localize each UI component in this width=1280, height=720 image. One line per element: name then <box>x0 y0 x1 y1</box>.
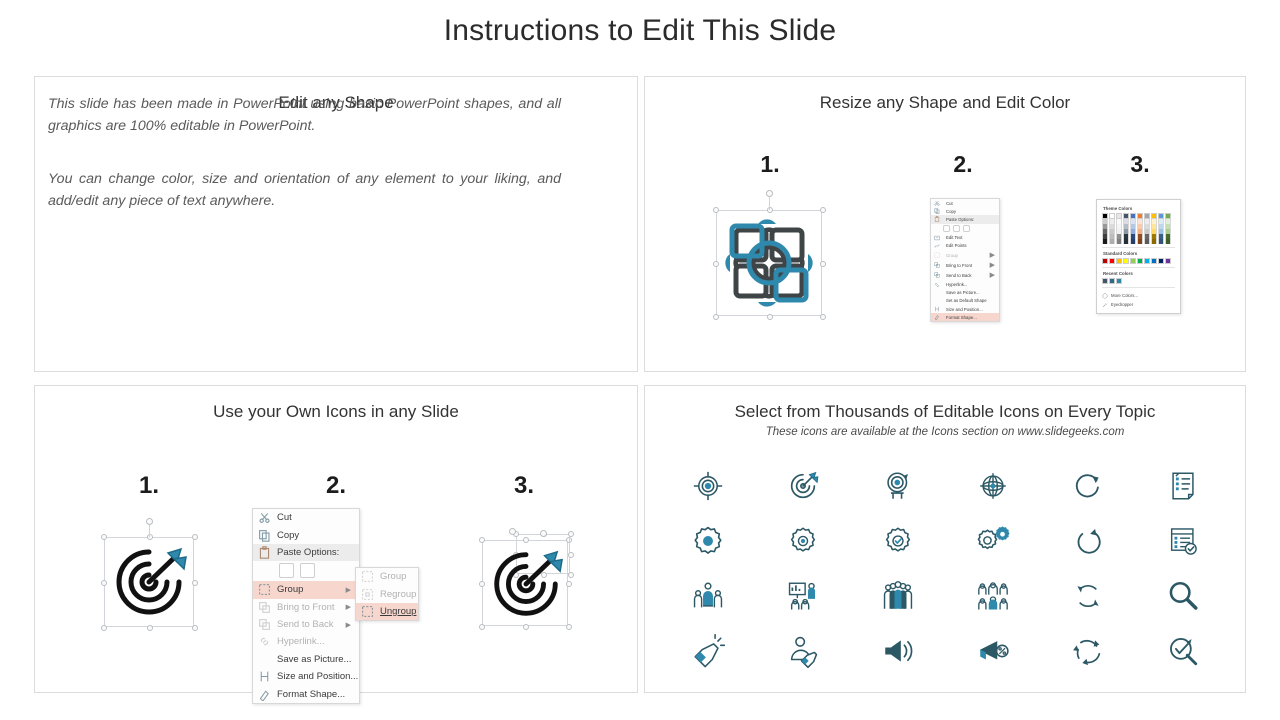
presentation-team-icon[interactable] <box>786 579 820 613</box>
send-back-icon <box>934 272 940 278</box>
ctx-item-set-default-shape[interactable]: Set as Default Shape <box>931 297 999 305</box>
ctx-item-save-as-picture[interactable]: Save as Picture... <box>253 651 359 668</box>
cycle-two-arrows-icon[interactable] <box>1071 579 1105 613</box>
ctx-label: Send to Back <box>277 619 334 630</box>
ctx-item-group[interactable]: Group ▶ <box>931 250 999 260</box>
edit-points-icon <box>934 243 940 249</box>
theme-tint-swatch[interactable] <box>1144 239 1150 244</box>
recent-colors-row[interactable] <box>1102 278 1175 284</box>
hyperlink-icon <box>934 282 940 288</box>
ctx-item-send-to-back[interactable]: Send to Back ▶ <box>931 270 999 280</box>
theme-tint-column-9[interactable] <box>1165 219 1171 244</box>
ctx-item-hyperlink[interactable]: Hyperlink... <box>253 633 359 650</box>
copy-icon <box>934 208 940 214</box>
handle-top-right[interactable] <box>820 207 826 213</box>
standard-color-swatch-8[interactable] <box>1158 258 1164 264</box>
submenu-item-group[interactable]: Group <box>356 568 418 585</box>
rotation-handle[interactable] <box>766 190 773 197</box>
paste-picture-button[interactable] <box>300 563 315 578</box>
rotation-stem <box>769 196 770 210</box>
checklist-approved-icon[interactable] <box>1166 524 1200 558</box>
handle-bottom-right[interactable] <box>820 314 826 320</box>
theme-tint-column-7[interactable] <box>1151 219 1157 244</box>
edit-shape-paragraph-1: This slide has been made in PowerPoint u… <box>48 93 561 137</box>
paste-icon <box>258 546 271 559</box>
handle-bottom-right[interactable] <box>192 625 198 631</box>
handle-bottom-left[interactable] <box>101 625 107 631</box>
ctx-item-copy[interactable]: Copy <box>253 526 359 543</box>
ctx-label: Format Shape... <box>946 315 977 320</box>
ctx-label: Set as Default Shape <box>946 298 987 303</box>
ctx-label: Ungroup <box>380 606 416 617</box>
bring-front-icon <box>258 601 271 614</box>
people-group-icon[interactable] <box>881 579 915 613</box>
theme-tint-column-6[interactable] <box>1144 219 1150 244</box>
dartboard-arrow-icon[interactable] <box>786 469 820 503</box>
theme-tint-swatch[interactable] <box>1151 239 1157 244</box>
ctx-item-format-shape[interactable]: Format Shape... <box>253 685 359 702</box>
theme-tint-swatch[interactable] <box>1123 239 1129 244</box>
scissors-icon <box>934 200 940 206</box>
more-colors-icon <box>1102 293 1108 299</box>
submenu-arrow-icon: ▶ <box>346 603 351 611</box>
handle-bottom-right[interactable] <box>566 624 572 630</box>
size-position-icon <box>934 306 940 312</box>
regroup-icon <box>361 588 374 601</box>
standard-color-swatch-6[interactable] <box>1144 258 1150 264</box>
submenu-arrow-icon: ▶ <box>346 586 351 594</box>
paste-picture-button[interactable] <box>953 225 960 232</box>
paste-icon <box>934 216 940 222</box>
ctx-label: Group <box>277 584 303 595</box>
bring-front-icon <box>934 262 940 268</box>
ctx-item-cut[interactable]: Cut <box>931 199 999 207</box>
ctx-item-paste-options[interactable]: Paste Options: <box>931 215 999 223</box>
recent-color-swatch-0[interactable] <box>1102 278 1108 284</box>
theme-tint-swatch[interactable] <box>1109 239 1115 244</box>
divider <box>1102 287 1175 288</box>
ctx-label: Copy <box>277 530 299 541</box>
crosshair-scope-icon[interactable] <box>976 469 1010 503</box>
ctx-label: Edit Points <box>946 243 967 248</box>
ctx-label: Bring to Front <box>946 263 972 268</box>
ctx-label: Send to Back <box>946 273 972 278</box>
ctx-item-bring-to-front[interactable]: Bring to Front ▶ <box>931 260 999 270</box>
meeting-group-icon[interactable] <box>976 579 1010 613</box>
group-icon <box>361 570 374 583</box>
resizable-shape-graphic <box>718 212 820 314</box>
ctx-label: Cut <box>277 512 292 523</box>
team-leader-icon[interactable] <box>691 579 725 613</box>
handle-bottom-center[interactable] <box>767 314 773 320</box>
page-title: Instructions to Edit This Slide <box>0 14 1280 48</box>
standard-color-swatch-4[interactable] <box>1130 258 1136 264</box>
refresh-clockwise-icon[interactable] <box>1071 469 1105 503</box>
group-icon <box>258 583 271 596</box>
handle-top-left[interactable] <box>101 534 107 540</box>
ctx-item-group[interactable]: Group ▶ <box>253 581 359 598</box>
theme-tint-column-5[interactable] <box>1137 219 1143 244</box>
ctx-label: Paste Options: <box>277 547 339 558</box>
standard-color-swatch-0[interactable] <box>1102 258 1108 264</box>
standard-color-swatch-2[interactable] <box>1116 258 1122 264</box>
rotation-handle[interactable] <box>509 528 516 535</box>
magnifier-check-icon[interactable] <box>1166 634 1200 668</box>
gears-double-icon[interactable] <box>976 524 1010 558</box>
ctx-label: Format Shape... <box>277 689 345 700</box>
ctx-label: Size and Position... <box>277 671 358 682</box>
more-colors-item[interactable]: More Colors... <box>1102 291 1175 300</box>
recent-color-swatch-1[interactable] <box>1109 278 1115 284</box>
refresh-counter-icon[interactable] <box>1071 524 1105 558</box>
send-back-icon <box>258 618 271 631</box>
person-megaphone-icon[interactable] <box>786 634 820 668</box>
ctx-label: Copy <box>946 209 956 214</box>
eyedropper-item[interactable]: Eyedropper <box>1102 300 1175 309</box>
ctx-label: Cut <box>946 201 953 206</box>
resize-step-number-2: 2. <box>933 151 993 178</box>
own-icons-step-number-1: 1. <box>119 472 179 500</box>
ctx-label: Hyperlink... <box>946 282 968 287</box>
theme-tint-swatch[interactable] <box>1158 239 1164 244</box>
ctx-label: Group <box>380 571 406 582</box>
cycle-three-arrows-icon[interactable] <box>1071 634 1105 668</box>
theme-colors-label: Theme Colors <box>1103 206 1175 211</box>
resize-step-number-1: 1. <box>740 151 800 178</box>
standard-colors-row[interactable] <box>1102 258 1175 264</box>
shape-context-menu-small[interactable]: Cut Copy Paste Options: Edit Text Edit P… <box>930 198 1000 322</box>
theme-tint-column-4[interactable] <box>1130 219 1136 244</box>
theme-tint-column-8[interactable] <box>1158 219 1164 244</box>
save-picture-icon <box>258 653 271 666</box>
hyperlink-icon <box>258 635 271 648</box>
theme-tint-swatch[interactable] <box>1165 239 1171 244</box>
standard-color-swatch-3[interactable] <box>1123 258 1129 264</box>
ungroup-icon <box>361 605 374 618</box>
theme-tint-column-1[interactable] <box>1109 219 1115 244</box>
ungrouped-target-arrow-graphic <box>486 544 566 624</box>
theme-tint-swatch[interactable] <box>1102 239 1108 244</box>
edit-text-icon <box>934 235 940 241</box>
megaphone-percent-icon[interactable] <box>976 634 1010 668</box>
save-picture-icon <box>934 290 940 296</box>
standard-color-swatch-5[interactable] <box>1137 258 1143 264</box>
megaphone-icon[interactable] <box>691 634 725 668</box>
own-icons-step-number-2: 2. <box>306 472 366 500</box>
eyedropper-label: Eyedropper <box>1111 302 1133 307</box>
ctx-item-bring-to-front[interactable]: Bring to Front ▶ <box>253 599 359 616</box>
gear-filled-icon[interactable] <box>691 524 725 558</box>
theme-tint-column-3[interactable] <box>1123 219 1129 244</box>
eyedropper-icon <box>1102 302 1108 308</box>
handle-middle-right[interactable] <box>820 261 826 267</box>
handle-bottom-right[interactable] <box>568 572 574 578</box>
rotation-stem <box>149 524 150 537</box>
panel-subtitle-editable-icons: These icons are available at the Icons s… <box>645 426 1245 438</box>
handle-bottom-left[interactable] <box>713 314 719 320</box>
handle-top-right[interactable] <box>192 534 198 540</box>
ctx-label: Bring to Front <box>277 602 335 613</box>
handle-middle-right[interactable] <box>566 581 572 587</box>
resize-step-number-3: 3. <box>1110 151 1170 178</box>
ctx-item-paste-options[interactable]: Paste Options: <box>253 544 359 561</box>
ctx-label: Group <box>946 253 958 258</box>
scissors-icon <box>258 511 271 524</box>
ctx-item-size-and-position[interactable]: Size and Position... <box>931 305 999 313</box>
handle-bottom-center[interactable] <box>523 624 529 630</box>
standard-color-swatch-9[interactable] <box>1165 258 1171 264</box>
ctx-item-edit-text[interactable]: Edit Text <box>931 234 999 242</box>
submenu-arrow-icon: ▶ <box>990 261 995 269</box>
handle-top-right[interactable] <box>568 531 574 537</box>
target-stand-icon[interactable] <box>881 469 915 503</box>
ctx-label: Edit Text <box>946 235 962 240</box>
editable-icons-grid <box>660 458 1230 678</box>
theme-tint-swatch[interactable] <box>1137 239 1143 244</box>
divider <box>1102 267 1175 268</box>
group-submenu[interactable]: Group Regroup Ungroup <box>355 567 419 621</box>
theme-tint-column-0[interactable] <box>1102 219 1108 244</box>
checklist-document-icon[interactable] <box>1166 469 1200 503</box>
rotation-handle[interactable] <box>146 518 153 525</box>
submenu-item-regroup[interactable]: Regroup <box>356 585 418 602</box>
handle-top-center[interactable] <box>147 534 153 540</box>
group-context-menu[interactable]: Cut Copy Paste Options: Group ▶ Bring to… <box>252 508 360 704</box>
handle-middle-left[interactable] <box>101 580 107 586</box>
divider <box>1102 247 1175 248</box>
standard-color-swatch-1[interactable] <box>1109 258 1115 264</box>
theme-tints-grid[interactable] <box>1102 219 1175 244</box>
paste-keep-formatting-button[interactable] <box>279 563 294 578</box>
slide-canvas: Instructions to Edit This Slide Edit any… <box>0 0 1280 720</box>
standard-colors-label: Standard Colors <box>1103 251 1175 256</box>
ctx-label: Hyperlink... <box>277 636 325 647</box>
ctx-item-cut[interactable]: Cut <box>253 509 359 526</box>
ctx-item-send-to-back[interactable]: Send to Back ▶ <box>253 616 359 633</box>
ctx-item-size-and-position[interactable]: Size and Position... <box>253 668 359 685</box>
handle-middle-right[interactable] <box>568 552 574 558</box>
size-position-icon <box>258 670 271 683</box>
copy-icon <box>258 529 271 542</box>
grouped-target-arrow-graphic <box>108 541 190 623</box>
theme-tint-swatch[interactable] <box>1130 239 1136 244</box>
ctx-label: Paste Options: <box>946 217 974 222</box>
panel-title-editable-icons: Select from Thousands of Editable Icons … <box>645 402 1245 422</box>
submenu-item-ungroup[interactable]: Ungroup <box>356 603 418 620</box>
theme-tint-swatch[interactable] <box>1116 239 1122 244</box>
target-crosshair-icon[interactable] <box>691 469 725 503</box>
handle-bottom-center[interactable] <box>147 625 153 631</box>
ctx-item-save-as-picture[interactable]: Save as Picture... <box>931 289 999 297</box>
paste-keep-text-button[interactable] <box>963 225 970 232</box>
ctx-label: Save as Picture... <box>277 654 351 665</box>
handle-middle-left[interactable] <box>479 581 485 587</box>
panel-title-resize-shape: Resize any Shape and Edit Color <box>645 93 1245 113</box>
group-icon <box>934 252 940 258</box>
format-shape-icon <box>258 688 271 701</box>
ctx-item-edit-points[interactable]: Edit Points <box>931 242 999 250</box>
rotation-handle[interactable] <box>540 530 547 537</box>
submenu-arrow-icon: ▶ <box>990 251 995 259</box>
ctx-label: Regroup <box>380 589 416 600</box>
color-picker-panel[interactable]: Theme Colors Standard Colors Recent Colo… <box>1096 199 1181 314</box>
handle-bottom-left[interactable] <box>479 624 485 630</box>
handle-middle-right[interactable] <box>192 580 198 586</box>
speaker-loud-icon[interactable] <box>881 634 915 668</box>
own-icons-step-number-3: 3. <box>494 472 554 500</box>
default-shape-icon <box>934 298 940 304</box>
paste-keep-formatting-button[interactable] <box>943 225 950 232</box>
ctx-item-copy[interactable]: Copy <box>931 207 999 215</box>
ctx-label: Size and Position... <box>946 307 983 312</box>
paste-options-strip[interactable] <box>931 224 999 234</box>
panel-title-own-icons: Use your Own Icons in any Slide <box>35 402 637 422</box>
submenu-arrow-icon: ▶ <box>346 621 351 629</box>
recent-colors-label: Recent Colors <box>1103 271 1175 276</box>
standard-color-swatch-7[interactable] <box>1151 258 1157 264</box>
ctx-item-hyperlink[interactable]: Hyperlink... <box>931 281 999 289</box>
recent-color-swatch-2[interactable] <box>1116 278 1122 284</box>
gear-check-icon[interactable] <box>881 524 915 558</box>
theme-tint-column-2[interactable] <box>1116 219 1122 244</box>
format-shape-icon <box>934 314 940 320</box>
ctx-item-format-shape[interactable]: Format Shape... <box>931 313 999 321</box>
edit-shape-paragraph-2: You can change color, size and orientati… <box>48 168 561 212</box>
more-colors-label: More Colors... <box>1111 293 1138 298</box>
ctx-label: Save as Picture... <box>946 290 980 295</box>
magnifier-icon[interactable] <box>1166 579 1200 613</box>
handle-top-left[interactable] <box>479 537 485 543</box>
submenu-arrow-icon: ▶ <box>990 271 995 279</box>
gear-center-icon[interactable] <box>786 524 820 558</box>
paste-options-strip[interactable] <box>253 561 359 581</box>
